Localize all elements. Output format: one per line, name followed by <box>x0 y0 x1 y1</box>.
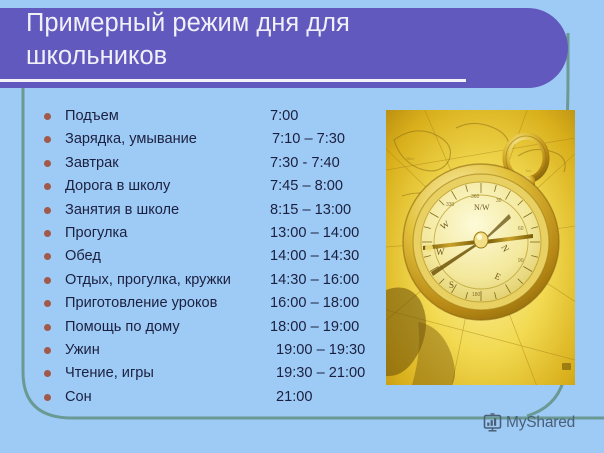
schedule-activity: Занятия в школе <box>65 199 179 222</box>
schedule-time: 18:00 – 19:00 <box>270 316 359 339</box>
bullet-icon <box>44 300 51 307</box>
schedule-activity: Дорога в школу <box>65 175 170 198</box>
schedule-time: 13:00 – 14:00 <box>270 222 359 245</box>
bullet-icon <box>44 324 51 331</box>
watermark-label: MyShared <box>506 414 575 432</box>
schedule-row: Дорога в школу7:45 – 8:00 <box>44 175 394 198</box>
schedule-activity: Помощь по дому <box>65 316 180 339</box>
schedule-activity: Прогулка <box>65 222 127 245</box>
schedule-time: 8:15 – 13:00 <box>270 199 351 222</box>
schedule-time: 7:00 <box>270 105 298 128</box>
schedule-row: Завтрак7:30 - 7:40 <box>44 152 394 175</box>
schedule-time: 7:10 – 7:30 <box>272 128 345 151</box>
bullet-icon <box>44 230 51 237</box>
schedule-time: 7:30 - 7:40 <box>270 152 340 175</box>
bullet-icon <box>44 394 51 401</box>
page-title: Примерный режим дня для школьников <box>26 7 496 73</box>
slide-canvas: Примерный режим дня для школьников Подъе… <box>0 0 604 453</box>
watermark: MyShared <box>483 413 575 432</box>
title-underline-rule <box>0 79 466 82</box>
schedule-activity: Сон <box>65 386 92 409</box>
schedule-activity: Обед <box>65 245 101 268</box>
schedule-activity: Чтение, игры <box>65 362 154 385</box>
schedule-row: Обед14:00 – 14:30 <box>44 245 394 268</box>
schedule-row: Приготовление уроков16:00 – 18:00 <box>44 292 394 315</box>
bullet-icon <box>44 347 51 354</box>
schedule-time: 14:30 – 16:00 <box>270 269 359 292</box>
bullet-icon <box>44 370 51 377</box>
schedule-row: Зарядка, умывание7:10 – 7:30 <box>44 128 394 151</box>
schedule-time: 7:45 – 8:00 <box>270 175 343 198</box>
schedule-time: 21:00 <box>276 386 313 409</box>
schedule-row: Занятия в школе8:15 – 13:00 <box>44 199 394 222</box>
schedule-row: Подъем7:00 <box>44 105 394 128</box>
schedule-row: Прогулка13:00 – 14:00 <box>44 222 394 245</box>
schedule-row: Сон21:00 <box>44 386 394 409</box>
schedule-time: 16:00 – 18:00 <box>270 292 359 315</box>
daily-schedule-list: Подъем7:00Зарядка, умывание7:10 – 7:30За… <box>44 105 394 409</box>
bullet-icon <box>44 277 51 284</box>
schedule-activity: Подъем <box>65 105 119 128</box>
schedule-row: Чтение, игры19:30 – 21:00 <box>44 362 394 385</box>
schedule-time: 19:00 – 19:30 <box>276 339 365 362</box>
schedule-row: Помощь по дому18:00 – 19:00 <box>44 316 394 339</box>
schedule-activity: Отдых, прогулка, кружки <box>65 269 231 292</box>
presentation-chart-icon <box>483 413 502 432</box>
bullet-icon <box>44 207 51 214</box>
schedule-time: 19:30 – 21:00 <box>276 362 365 385</box>
bullet-icon <box>44 136 51 143</box>
bullet-icon <box>44 160 51 167</box>
bullet-icon <box>44 253 51 260</box>
schedule-time: 14:00 – 14:30 <box>270 245 359 268</box>
schedule-activity: Завтрак <box>65 152 119 175</box>
schedule-activity: Зарядка, умывание <box>65 128 197 151</box>
compass-photo: Mare Terra di Sopra Ins. <box>386 110 575 385</box>
bullet-icon <box>44 183 51 190</box>
schedule-activity: Ужин <box>65 339 100 362</box>
schedule-row: Ужин19:00 – 19:30 <box>44 339 394 362</box>
schedule-activity: Приготовление уроков <box>65 292 217 315</box>
bullet-icon <box>44 113 51 120</box>
schedule-row: Отдых, прогулка, кружки14:30 – 16:00 <box>44 269 394 292</box>
